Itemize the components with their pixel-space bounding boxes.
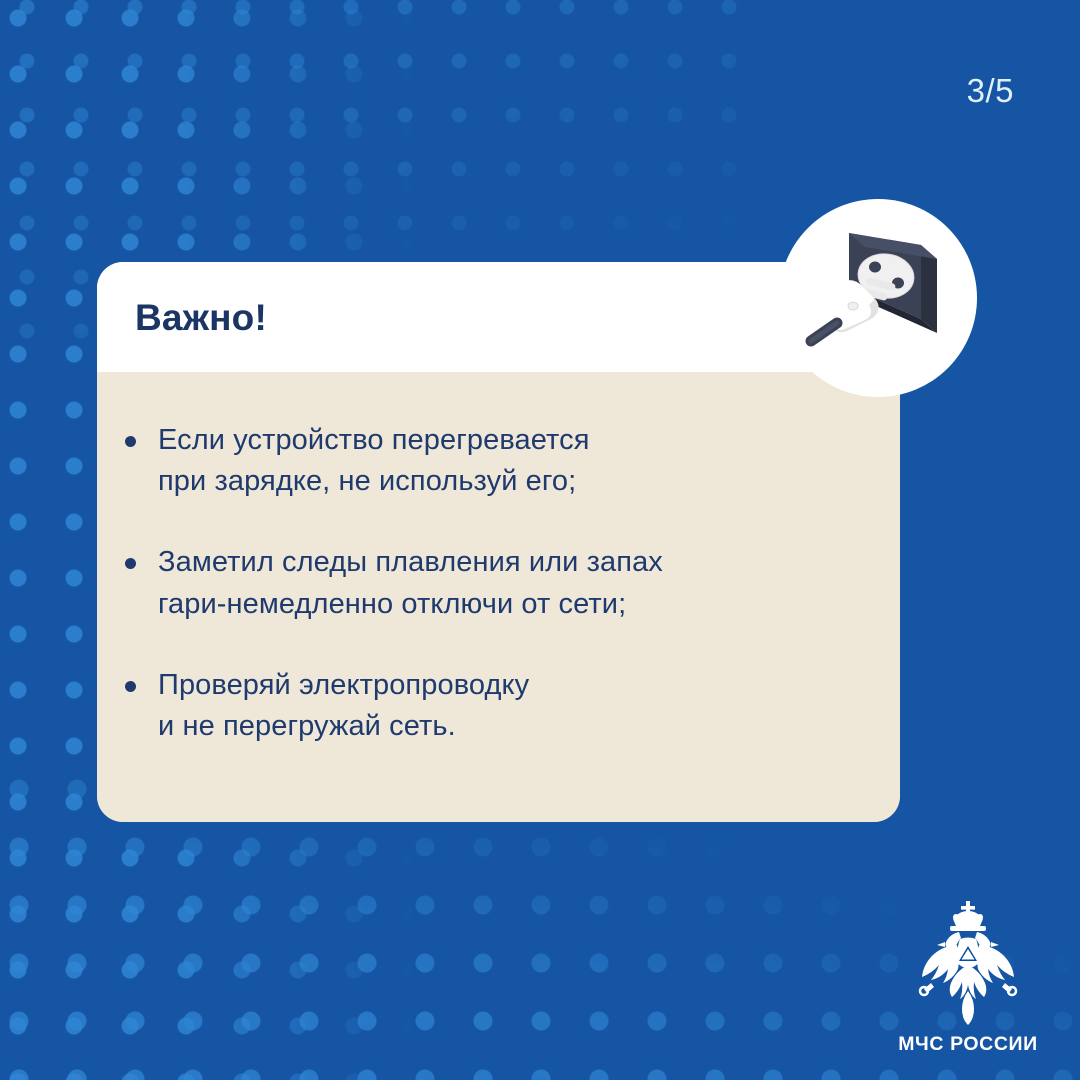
list-item-text: Если устройство перегревается при зарядк…	[158, 420, 590, 502]
bullet-dot-icon	[125, 558, 136, 569]
bullet-dot-icon	[125, 436, 136, 447]
bullet-list: Если устройство перегревается при зарядк…	[125, 420, 860, 747]
mchs-eagle-emblem-icon	[909, 899, 1027, 1029]
card-title: Важно!	[135, 297, 267, 339]
list-item: Если устройство перегревается при зарядк…	[125, 420, 860, 502]
list-item: Заметил следы плавления или запах гари-н…	[125, 542, 860, 624]
infographic-slide: 3/5 Важно! Если устройство перегревается…	[0, 0, 1080, 1080]
bullet-dot-icon	[125, 681, 136, 692]
list-item-text: Проверяй электропроводку и не перегружай…	[158, 665, 529, 747]
list-item-text: Заметил следы плавления или запах гари-н…	[158, 542, 663, 624]
mchs-logo: МЧС РОССИИ	[890, 899, 1046, 1056]
page-counter: 3/5	[967, 72, 1014, 110]
card-header: Важно!	[97, 262, 900, 372]
power-socket-plug-illustration	[803, 223, 953, 373]
power-socket-plug-icon	[779, 199, 977, 397]
card-body: Если устройство перегревается при зарядк…	[97, 372, 900, 822]
logo-text: МЧС РОССИИ	[890, 1033, 1046, 1056]
content-card: Важно! Если устройство перегревается при…	[97, 262, 900, 822]
list-item: Проверяй электропроводку и не перегружай…	[125, 665, 860, 747]
